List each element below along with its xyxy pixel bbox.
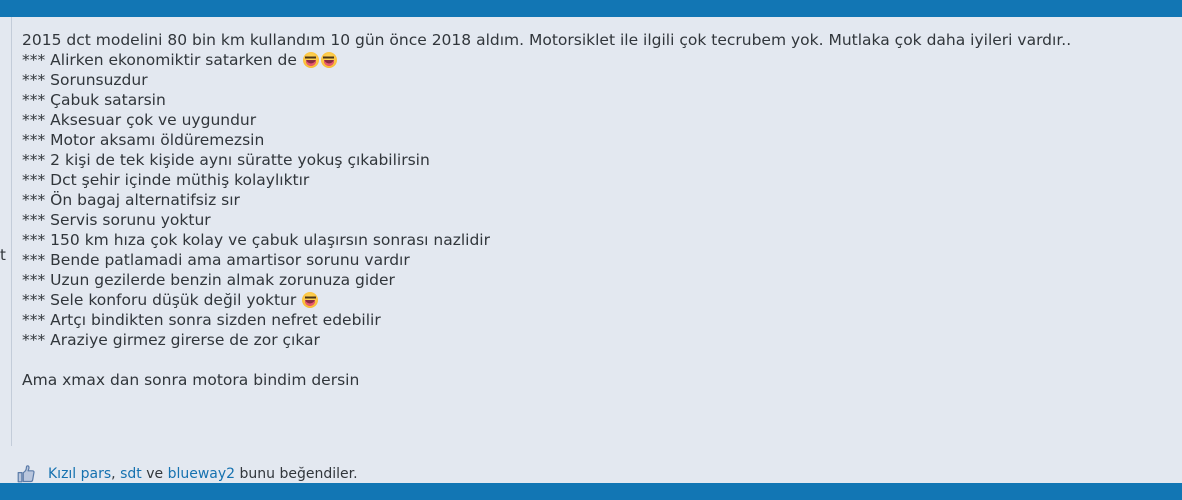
post-line <box>22 350 1162 370</box>
post-line-text: *** 150 km hıza çok kolay ve çabuk ulaşı… <box>22 231 490 249</box>
post-line: *** 2 kişi de tek kişide aynı süratte yo… <box>22 150 1162 170</box>
like-user-link[interactable]: sdt <box>120 466 142 482</box>
post-line-text: *** Araziye girmez girerse de zor çıkar <box>22 331 320 349</box>
post-line-text: *** Sorunsuzdur <box>22 71 148 89</box>
post-line-text: 2015 dct modelini 80 bin km kullandım 10… <box>22 31 1071 49</box>
post-line-text: *** Aksesuar çok ve uygundur <box>22 111 256 129</box>
post-container: t 2015 dct modelini 80 bin km kullandım … <box>0 17 1182 483</box>
post-line: *** Dct şehir içinde müthiş kolaylıktır <box>22 170 1162 190</box>
likes-text: Kızıl pars, sdt ve blueway2 bunu beğendi… <box>48 465 358 483</box>
post-line: Ama xmax dan sonra motora bindim dersin <box>22 370 1162 390</box>
post-page: t 2015 dct modelini 80 bin km kullandım … <box>0 0 1182 500</box>
post-left-divider <box>11 17 12 483</box>
like-separator: , <box>111 466 120 482</box>
post-line: *** Motor aksamı öldüremezsin <box>22 130 1162 150</box>
post-line: *** Bende patlamadi ama amartisor sorunu… <box>22 250 1162 270</box>
post-line: 2015 dct modelini 80 bin km kullandım 10… <box>22 30 1162 50</box>
post-line: *** Aksesuar çok ve uygundur <box>22 110 1162 130</box>
face-with-tears-of-joy-emoji <box>302 292 318 308</box>
post-message-body: 2015 dct modelini 80 bin km kullandım 10… <box>22 30 1162 390</box>
post-line: *** 150 km hıza çok kolay ve çabuk ulaşı… <box>22 230 1162 250</box>
post-line-text: *** Artçı bindikten sonra sizden nefret … <box>22 311 381 329</box>
post-line: *** Çabuk satarsin <box>22 90 1162 110</box>
clipped-edge-glyph: t <box>0 245 10 265</box>
top-accent-bar <box>0 0 1182 17</box>
post-line-text: *** Alirken ekonomiktir satarken de <box>22 51 302 69</box>
post-line: *** Sele konforu düşük değil yoktur <box>22 290 1162 310</box>
post-line-text: Ama xmax dan sonra motora bindim dersin <box>22 371 359 389</box>
post-line: *** Ön bagaj alternatifsiz sır <box>22 190 1162 210</box>
like-user-link[interactable]: Kızıl pars <box>48 466 111 482</box>
face-with-tears-of-joy-emoji <box>321 52 337 68</box>
post-line-text: *** Çabuk satarsin <box>22 91 166 109</box>
post-line-text: *** Dct şehir içinde müthiş kolaylıktır <box>22 171 309 189</box>
like-user-link[interactable]: blueway2 <box>168 466 235 482</box>
face-with-tears-of-joy-emoji <box>303 52 319 68</box>
like-suffix-text: bunu beğendiler. <box>235 466 357 482</box>
post-line-text: *** Bende patlamadi ama amartisor sorunu… <box>22 251 410 269</box>
post-line: *** Uzun gezilerde benzin almak zorunuza… <box>22 270 1162 290</box>
post-line-text: *** Sele konforu düşük değil yoktur <box>22 291 301 309</box>
like-separator: ve <box>142 466 168 482</box>
post-line: *** Artçı bindikten sonra sizden nefret … <box>22 310 1162 330</box>
post-line-text: *** 2 kişi de tek kişide aynı süratte yo… <box>22 151 430 169</box>
post-line: *** Alirken ekonomiktir satarken de <box>22 50 1162 70</box>
bottom-accent-bar <box>0 483 1182 500</box>
post-line: *** Araziye girmez girerse de zor çıkar <box>22 330 1162 350</box>
post-line-text: *** Ön bagaj alternatifsiz sır <box>22 191 240 209</box>
post-line-text: *** Uzun gezilerde benzin almak zorunuza… <box>22 271 395 289</box>
post-line: *** Servis sorunu yoktur <box>22 210 1162 230</box>
thumbs-up-icon[interactable] <box>15 463 37 485</box>
post-line-text: *** Motor aksamı öldüremezsin <box>22 131 264 149</box>
post-line-text: *** Servis sorunu yoktur <box>22 211 211 229</box>
post-line: *** Sorunsuzdur <box>22 70 1162 90</box>
likes-row: Kızıl pars, sdt ve blueway2 bunu beğendi… <box>15 463 358 485</box>
